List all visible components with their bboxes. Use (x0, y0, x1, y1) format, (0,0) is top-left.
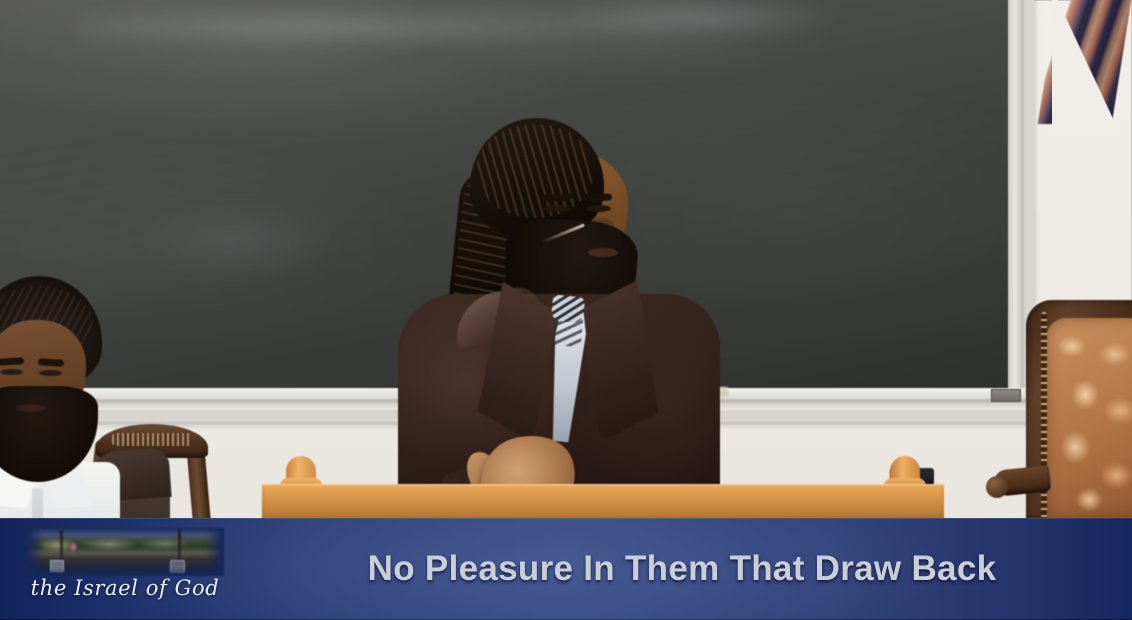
eyebrow-right (584, 194, 612, 202)
curtain-mask (1052, 0, 1132, 132)
mouth (588, 248, 618, 257)
eye-right (39, 370, 62, 376)
seated-man (0, 276, 184, 520)
wooden-pulpit (262, 456, 944, 522)
chalk-smudge (548, 0, 848, 38)
eye-left (544, 205, 570, 212)
ministry-logo-caption: the Israel of God (26, 576, 224, 600)
pulpit-top (262, 486, 944, 522)
hair (470, 118, 604, 236)
logo-pole-left (60, 530, 63, 574)
chair-arm-knob (986, 476, 1008, 498)
logo-pole-right (178, 528, 181, 574)
ministry-logo: the Israel of God (26, 528, 226, 612)
logo-sign-left (50, 560, 64, 572)
chalkboard-brand-label (991, 389, 1021, 402)
ornate-chair-right (1026, 300, 1132, 520)
necktie-knot (551, 294, 586, 323)
sermon-title: No Pleasure In Them That Draw Back (262, 536, 1102, 602)
eye-left (0, 369, 23, 375)
lower-third-banner: the Israel of God No Pleasure In Them Th… (0, 518, 1132, 620)
eye-right (586, 205, 611, 212)
chalk-smudge (138, 200, 338, 280)
logo-sign-right (170, 560, 185, 573)
chalkboard-frame-right (1008, 0, 1024, 406)
mouth (16, 404, 46, 412)
video-player-stage: the Israel of God No Pleasure In Them Th… (0, 0, 1132, 620)
damask-upholstery (1046, 318, 1132, 520)
logo-landscape-photo (26, 528, 224, 576)
